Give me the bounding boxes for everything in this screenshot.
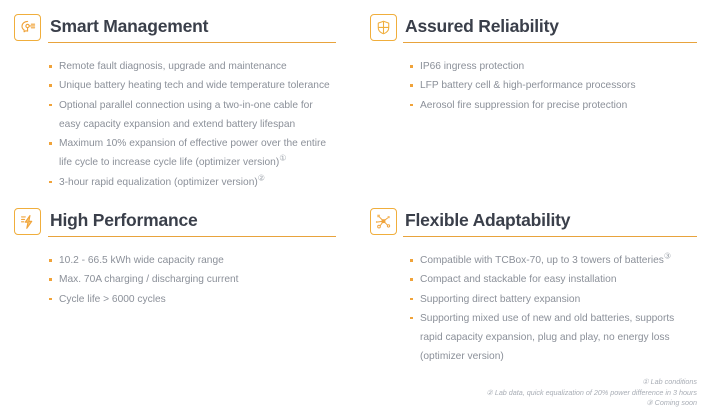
list-item: Cycle life > 6000 cycles [48, 290, 336, 309]
list-item: Remote fault diagnosis, upgrade and main… [48, 57, 336, 76]
title-divider [48, 236, 336, 237]
list-item: Compatible with TCBox-70, up to 3 towers… [409, 251, 697, 270]
title-divider [48, 42, 336, 43]
bullet-text: Cycle life > 6000 cycles [59, 294, 166, 305]
lightning-bolt-icon [14, 208, 41, 235]
shield-icon [370, 14, 397, 41]
list-item: IP66 ingress protection [409, 57, 697, 76]
list-item: Optional parallel connection using a two… [48, 96, 336, 135]
list-item: Compact and stackable for easy installat… [409, 270, 697, 289]
bullet-text: LFP battery cell & high-performance proc… [420, 80, 636, 91]
panel-header: Flexible Adaptability [370, 207, 697, 237]
panel-bullet-list: IP66 ingress protection LFP battery cell… [409, 57, 697, 115]
list-item: 3-hour rapid equalization (optimizer ver… [48, 173, 336, 192]
list-item: LFP battery cell & high-performance proc… [409, 76, 697, 95]
footnote-1: ① Lab conditions [486, 377, 697, 388]
bullet-text: Supporting mixed use of new and old batt… [420, 313, 674, 363]
bullet-text: Aerosol fire suppression for precise pro… [420, 100, 627, 111]
bullet-text: Supporting direct battery expansion [420, 294, 580, 305]
panel-header: High Performance [14, 207, 336, 237]
list-item: Supporting mixed use of new and old batt… [409, 309, 697, 367]
network-nodes-icon [370, 208, 397, 235]
bullet-text: Unique battery heating tech and wide tem… [59, 80, 330, 91]
list-item: 10.2 - 66.5 kWh wide capacity range [48, 251, 336, 270]
chat-bubble-settings-icon [14, 14, 41, 41]
bullet-text: Remote fault diagnosis, upgrade and main… [59, 61, 287, 72]
list-item: Unique battery heating tech and wide tem… [48, 76, 336, 95]
footnote-marker: ③ [664, 252, 671, 261]
footnote-3: ③ Coming soon [486, 398, 697, 409]
bullet-text: 3-hour rapid equalization (optimizer ver… [59, 177, 258, 188]
panel-title: High Performance [50, 207, 198, 234]
footnotes: ① Lab conditions ② Lab data, quick equal… [486, 377, 697, 409]
feature-panel-smart-management: Smart Management Remote fault diagnosis,… [14, 13, 336, 43]
bullet-text: Compact and stackable for easy installat… [420, 274, 617, 285]
footnote-marker: ① [279, 154, 286, 163]
list-item: Max. 70A charging / discharging current [48, 270, 336, 289]
list-item: Supporting direct battery expansion [409, 290, 697, 309]
feature-panel-flexible-adaptability: Flexible Adaptability Compatible with TC… [370, 207, 697, 237]
feature-panel-high-performance: High Performance 10.2 - 66.5 kWh wide ca… [14, 207, 336, 237]
bullet-text: Optional parallel connection using a two… [59, 100, 313, 130]
title-divider [403, 236, 697, 237]
panel-header: Smart Management [14, 13, 336, 43]
panel-bullet-list: Remote fault diagnosis, upgrade and main… [48, 57, 336, 192]
footnote-marker: ② [258, 173, 265, 182]
panel-title: Flexible Adaptability [405, 207, 570, 234]
bullet-text: Compatible with TCBox-70, up to 3 towers… [420, 255, 664, 266]
list-item: Aerosol fire suppression for precise pro… [409, 96, 697, 115]
title-divider [403, 42, 697, 43]
feature-grid: Smart Management Remote fault diagnosis,… [0, 0, 703, 410]
footnote-2: ② Lab data, quick equalization of 20% po… [486, 388, 697, 399]
panel-title: Smart Management [50, 13, 208, 40]
feature-panel-assured-reliability: Assured Reliability IP66 ingress protect… [370, 13, 697, 43]
bullet-text: 10.2 - 66.5 kWh wide capacity range [59, 255, 224, 266]
bullet-text: IP66 ingress protection [420, 61, 524, 72]
panel-header: Assured Reliability [370, 13, 697, 43]
bullet-text: Max. 70A charging / discharging current [59, 274, 239, 285]
panel-title: Assured Reliability [405, 13, 559, 40]
list-item: Maximum 10% expansion of effective power… [48, 134, 336, 173]
panel-bullet-list: 10.2 - 66.5 kWh wide capacity range Max.… [48, 251, 336, 309]
panel-bullet-list: Compatible with TCBox-70, up to 3 towers… [409, 251, 697, 367]
